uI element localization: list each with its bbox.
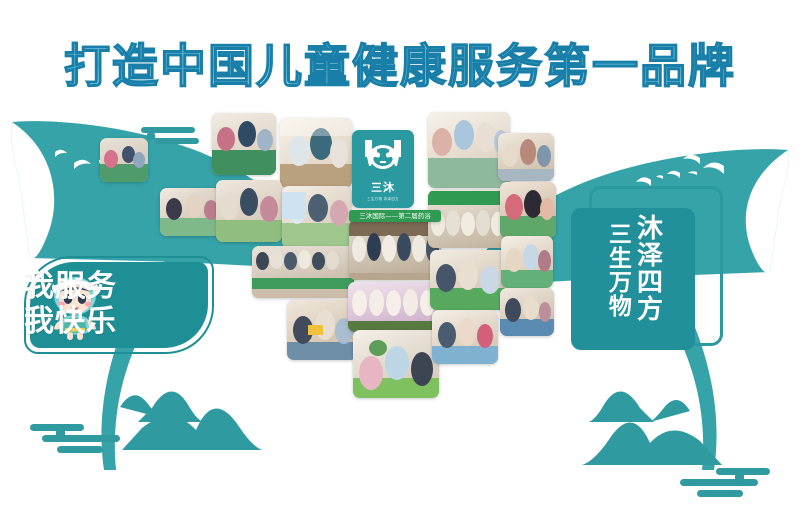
caption-banner-text: 三沐国际——第二届药浴	[349, 210, 441, 222]
collage-photo	[430, 250, 508, 310]
collage-photo	[500, 182, 556, 238]
collage-photo	[282, 186, 352, 248]
calligraphy-column-right: 沐泽四方	[633, 214, 661, 350]
slogan-line-2: 我快乐	[24, 305, 117, 340]
calligraphy-columns: 沐泽四方 三生万物	[571, 208, 695, 350]
collage-photo	[252, 246, 354, 298]
collage-photo	[432, 310, 498, 364]
collage-photo	[280, 118, 352, 188]
slogan-line-1: 我服务	[24, 270, 117, 305]
calligraphy-badge: 沐泽四方 三生万物	[571, 196, 713, 356]
collage-photo	[498, 133, 554, 181]
collage-photo	[287, 300, 357, 360]
brand-tagline: 三生万物 沐泽四方	[367, 196, 399, 201]
collage-photo	[501, 236, 553, 288]
brand-name: 三沐	[371, 179, 395, 195]
collage-photo	[160, 188, 220, 236]
collage-photo	[212, 113, 276, 175]
deer-mask-icon	[361, 138, 405, 176]
poster-canvas: 打造中国儿童健康服务第一品牌 打造中国儿童健康服务第一品牌	[0, 0, 800, 510]
collage-photo	[216, 180, 282, 242]
calligraphy-column-left: 三生万物	[605, 214, 630, 350]
collage-photo	[348, 282, 440, 332]
collage-photo	[353, 330, 439, 398]
brand-logo-tile: 三沐 三生万物 沐泽四方	[352, 130, 414, 208]
collage-caption-banner: 三沐国际——第二届药浴	[349, 210, 441, 222]
collage-photo	[100, 138, 148, 182]
service-slogan-badge: 我服务 我快乐	[24, 256, 214, 354]
collage-photo	[500, 288, 554, 336]
badge-slogan-lines: 我服务 我快乐	[24, 270, 136, 340]
